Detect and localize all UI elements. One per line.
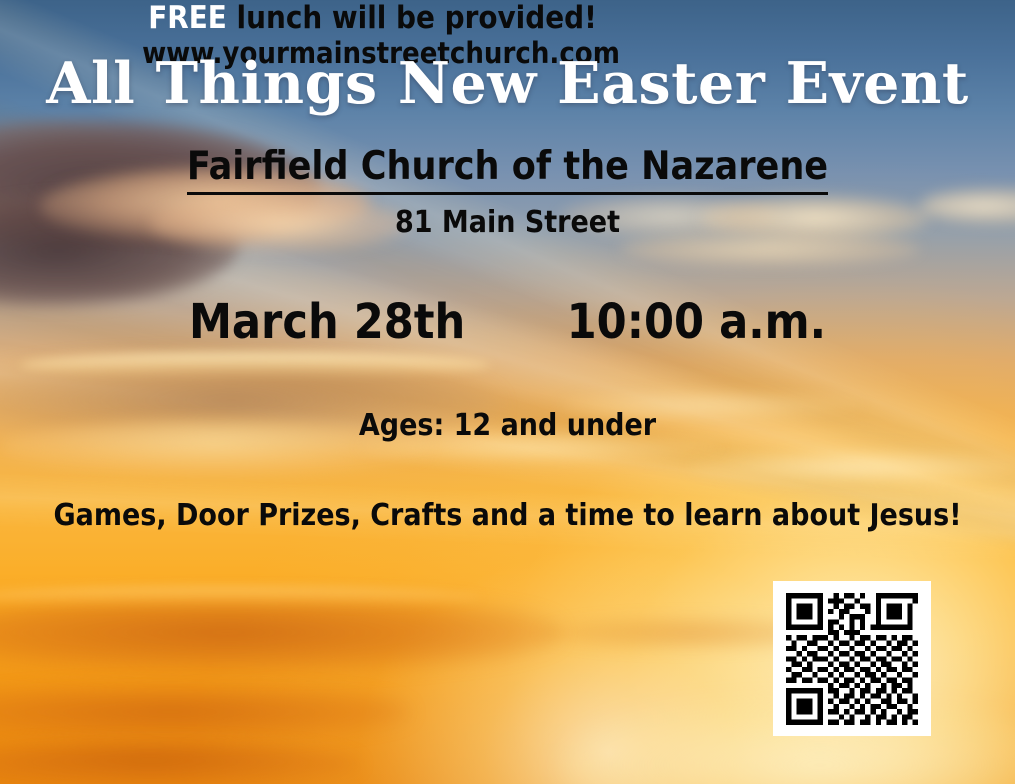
date-time-line: March 28th 10:00 a.m.: [0, 298, 1015, 346]
activities-line: Games, Door Prizes, Crafts and a time to…: [0, 501, 1015, 531]
free-lunch-rest-text: lunch will be provided!: [227, 0, 597, 36]
age-range-line: Ages: 12 and under: [0, 411, 1015, 441]
church-name-underlined-text: Fairfield Church of the Nazarene: [187, 144, 828, 195]
church-name: Fairfield Church of the Nazarene: [0, 147, 1015, 186]
free-highlight-word: FREE: [148, 0, 227, 36]
qr-code-icon[interactable]: [786, 593, 918, 725]
qr-code-panel[interactable]: [773, 581, 931, 736]
easter-event-poster: All Things New Easter Event Fairfield Ch…: [0, 0, 1015, 784]
free-lunch-line: FREE lunch will be provided!: [0, 0, 745, 36]
page-title: All Things New Easter Event: [0, 55, 1015, 112]
address-line: 81 Main Street: [0, 208, 1015, 238]
